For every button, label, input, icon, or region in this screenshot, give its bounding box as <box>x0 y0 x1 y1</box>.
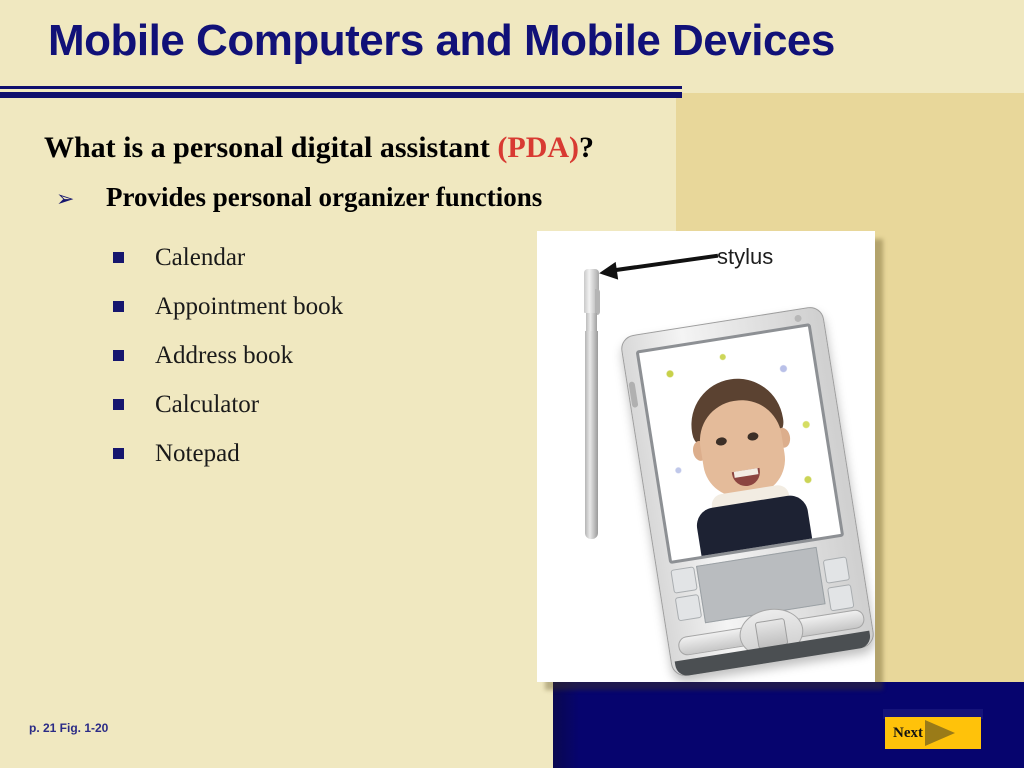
slide: Mobile Computers and Mobile Devices What… <box>0 0 1024 768</box>
title-rule-thick <box>0 92 682 98</box>
sub-bullet-list: Calendar Appointment book Address book C… <box>113 233 343 478</box>
callout-arrow-line <box>609 254 718 273</box>
heading-text-after: ? <box>579 131 594 164</box>
pda-app-icon-bottom-right <box>827 584 854 611</box>
heading-text-before: What is a personal digital assistant <box>44 131 497 164</box>
pda-device <box>619 305 875 678</box>
stylus-pen <box>584 269 599 539</box>
list-item: Calculator <box>113 380 343 429</box>
pda-screen <box>639 327 841 561</box>
list-item-label: Calculator <box>155 391 259 419</box>
page-reference: p. 21 Fig. 1-20 <box>29 721 108 735</box>
list-item: Notepad <box>113 429 343 478</box>
list-item-label: Calendar <box>155 244 245 272</box>
page-title: Mobile Computers and Mobile Devices <box>48 14 988 68</box>
next-button-label: Next <box>893 725 923 742</box>
pda-app-icon-bottom-left <box>675 594 702 621</box>
list-item-label: Address book <box>155 342 293 370</box>
next-button[interactable]: Next <box>885 717 981 749</box>
bullet-level1-label: Provides personal organizer functions <box>106 182 542 213</box>
square-bullet-icon <box>113 448 124 459</box>
pda-app-icon-top-left <box>670 566 697 593</box>
stylus-callout-label: stylus <box>717 244 773 270</box>
pda-figure: stylus <box>537 231 875 682</box>
pda-app-icon-top-right <box>823 556 850 583</box>
square-bullet-icon <box>113 301 124 312</box>
list-item-label: Notepad <box>155 440 240 468</box>
list-item-label: Appointment book <box>155 293 343 321</box>
list-item: Appointment book <box>113 282 343 331</box>
stylus-barrel-upper <box>586 313 597 331</box>
square-bullet-icon <box>113 252 124 263</box>
section-heading: What is a personal digital assistant (PD… <box>44 131 594 165</box>
play-triangle-icon <box>925 720 955 746</box>
bullet-level1: ➢ Provides personal organizer functions <box>56 182 542 213</box>
callout-arrow-head-icon <box>598 262 618 282</box>
title-rule-thin <box>0 86 682 89</box>
arrow-bullet-icon: ➢ <box>56 189 106 211</box>
stylus-barrel-lower <box>585 331 598 539</box>
stylus-clip <box>595 289 600 315</box>
list-item: Calendar <box>113 233 343 282</box>
square-bullet-icon <box>113 399 124 410</box>
square-bullet-icon <box>113 350 124 361</box>
heading-accent-pda: (PDA) <box>497 131 579 164</box>
list-item: Address book <box>113 331 343 380</box>
pda-screen-bezel <box>636 323 845 564</box>
